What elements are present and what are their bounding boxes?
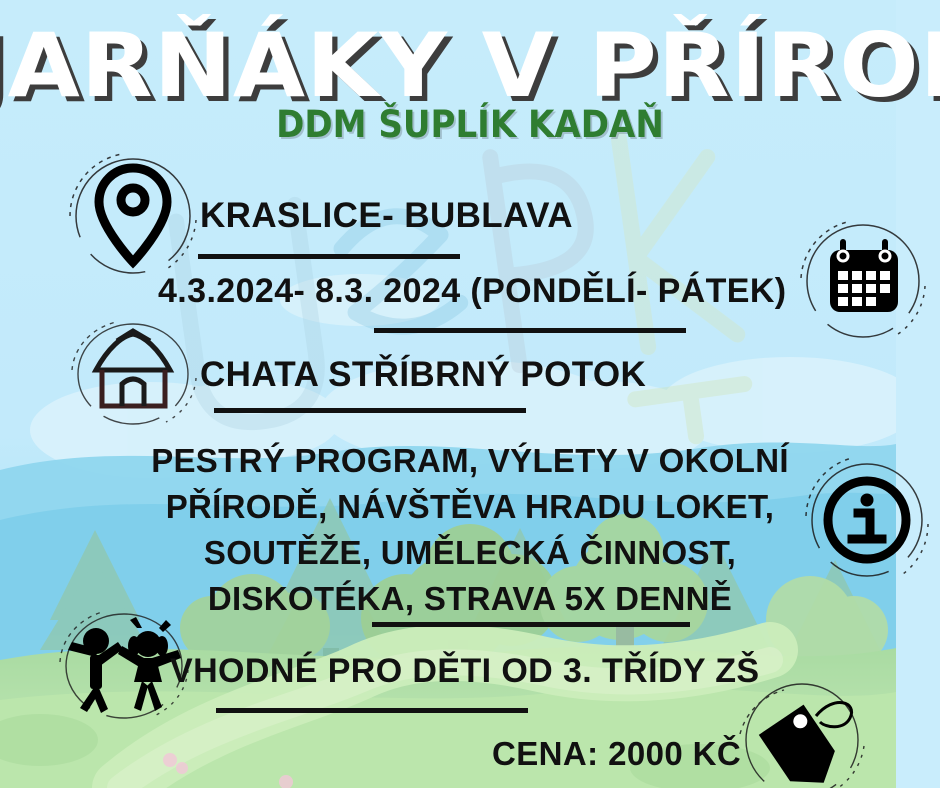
line-age: VHODNÉ PRO DĚTI OD 3. TŘÍDY ZŠ — [170, 652, 759, 691]
line-price: CENA: 2000 KČ — [492, 735, 741, 773]
divider-1 — [198, 254, 460, 259]
divider-4 — [372, 622, 690, 627]
location-pin-icon — [58, 150, 208, 280]
price-tag-icon — [722, 688, 884, 788]
line-dates: 4.3.2024- 8.3. 2024 (PONDĚLÍ- PÁTEK) — [158, 272, 787, 311]
program-line-2: PŘÍRODĚ, NÁVŠTĚVA HRADU LOKET, — [0, 484, 940, 530]
divider-3 — [214, 408, 526, 413]
program-paragraph: PESTRÝ PROGRAM, VÝLETY V OKOLNÍ PŘÍRODĚ,… — [0, 438, 940, 622]
divider-5 — [216, 708, 528, 713]
program-line-1: PESTRÝ PROGRAM, VÝLETY V OKOLNÍ — [0, 438, 940, 484]
line-location: KRASLICE- BUBLAVA — [200, 196, 573, 236]
program-line-4: DISKOTÉKA, STRAVA 5X DENNĚ — [0, 576, 940, 622]
poster-root: JARŇÁKY V PŘÍRODĚ DDM ŠUPLÍK KADAŇ — [0, 0, 940, 788]
cabin-icon — [62, 318, 208, 430]
calendar-icon — [793, 218, 933, 344]
line-venue: CHATA STŘÍBRNÝ POTOK — [200, 355, 646, 395]
page-title: JARŇÁKY V PŘÍRODĚ — [0, 0, 940, 110]
title-block: JARŇÁKY V PŘÍRODĚ DDM ŠUPLÍK KADAŇ — [0, 0, 940, 143]
divider-2 — [374, 328, 686, 333]
organizer-subtitle: DDM ŠUPLÍK KADAŇ — [38, 106, 903, 143]
program-line-3: SOUTĚŽE, UMĚLECKÁ ČINNOST, — [0, 530, 940, 576]
